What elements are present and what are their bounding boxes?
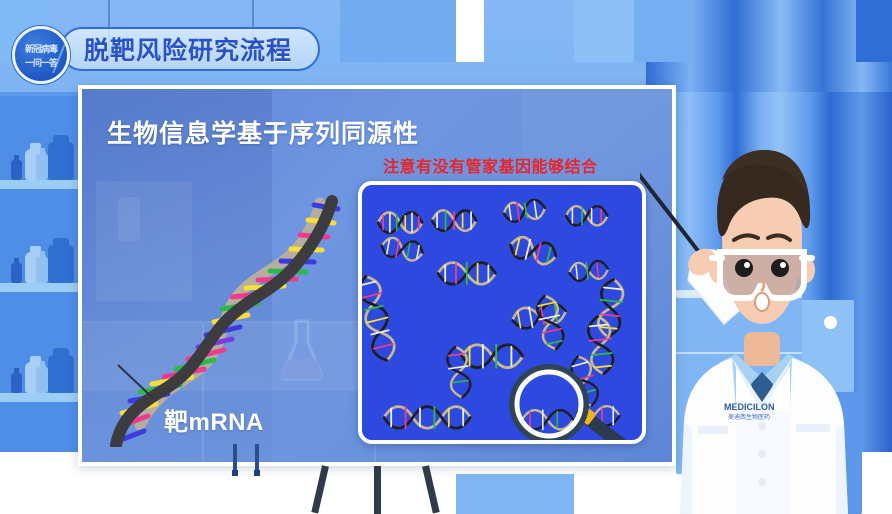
- presentation-board[interactable]: 生物信息学基于序列同源性 注意有没有管家基因能够结合: [78, 85, 676, 466]
- floor-tile-6: [634, 0, 694, 62]
- badge-main-text: MEDICILON: [724, 402, 775, 412]
- scientist-character: MEDICILON 美迪西生物医药: [640, 110, 892, 514]
- shelf-plank-2: [0, 283, 82, 292]
- logo-line-1: 新冠病毒: [15, 45, 67, 54]
- floor-tile-2: [340, 0, 456, 62]
- floor-tile-5: [574, 0, 634, 62]
- easel-leg-center: [374, 466, 381, 514]
- page-title: 脱靶风险研究流程: [84, 31, 292, 67]
- floor-tile-4: [456, 474, 574, 514]
- shelf-jar-small-2: [11, 263, 22, 283]
- shelf-jar-big-2: [48, 245, 74, 283]
- shelf-jar-big-1: [48, 142, 74, 180]
- shelf-jar-thin-1: [36, 154, 48, 180]
- scene-root: 生物信息学基于序列同源性 注意有没有管家基因能够结合: [0, 0, 892, 514]
- magnifier-icon[interactable]: [504, 360, 639, 444]
- shelf-plank-3: [0, 393, 82, 402]
- board-annotation-note: 注意有没有管家基因能够结合: [383, 153, 598, 177]
- coat-badge: MEDICILON 美迪西生物医药: [724, 402, 775, 421]
- shelf-jar-small-1: [11, 160, 22, 180]
- board-heading: 生物信息学基于序列同源性: [107, 114, 419, 150]
- target-mrna-label: 靶mRNA: [164, 402, 264, 437]
- sequence-homology-panel[interactable]: [358, 181, 646, 444]
- stand-pole-1: [233, 444, 237, 470]
- shelf-jar-small-3: [11, 373, 22, 393]
- brand-logo-icon[interactable]: 新冠病毒 一问一答: [12, 26, 70, 84]
- floor-tile-3: [456, 0, 484, 62]
- shelf-plank-1: [0, 180, 82, 189]
- floor-tile-7: [856, 0, 892, 62]
- shelf-tier-4: [0, 402, 82, 452]
- logo-line-2: 一问一答: [15, 59, 67, 68]
- shelf-jar-thin-2: [36, 257, 48, 283]
- shelf-jar-thin-3: [36, 367, 48, 393]
- shelf-jar-big-3: [48, 355, 74, 393]
- pointer-stick-icon: [640, 172, 702, 256]
- stand-pole-2: [255, 444, 259, 470]
- badge-sub-text: 美迪西生物医药: [728, 413, 770, 421]
- stand-foot-1: [232, 470, 238, 476]
- stand-foot-2: [254, 470, 260, 476]
